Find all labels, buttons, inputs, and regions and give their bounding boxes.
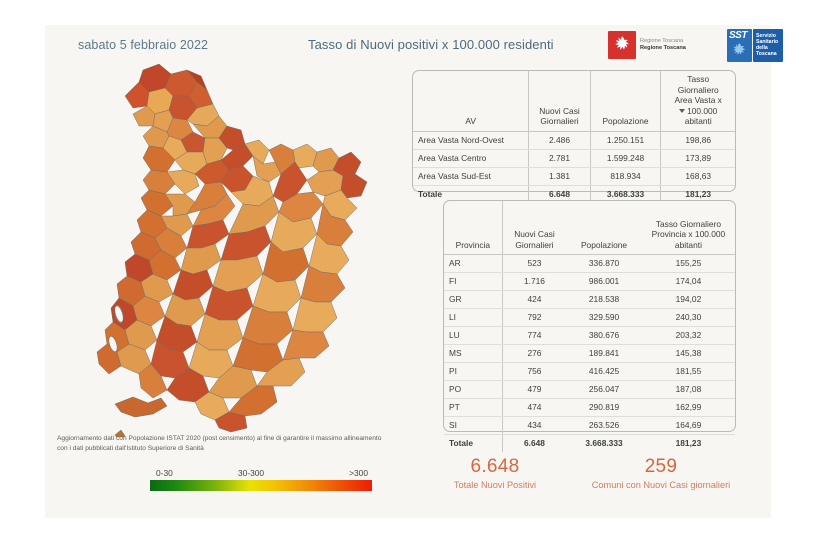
cell-casi: 434 — [502, 417, 566, 435]
cell-tasso: 187,08 — [642, 381, 735, 399]
cell-provincia: PT — [444, 399, 502, 417]
table-header-row: Provincia Nuovi Casi Giornalieri Popolaz… — [444, 201, 735, 255]
table-row[interactable]: SI 434 263.526 164,69 — [444, 417, 735, 435]
legend-label-mid: 30-300 — [238, 468, 264, 478]
provincia-table-body: AR 523 336.870 155,25 FI 1.716 986.001 1… — [444, 255, 735, 453]
provincia-table-panel: Provincia Nuovi Casi Giornalieri Popolaz… — [443, 200, 736, 432]
col-header-av-label: AV — [465, 116, 476, 126]
col-header-nuovi-casi[interactable]: Nuovi Casi Giornalieri — [502, 201, 566, 255]
cell-casi: 756 — [502, 363, 566, 381]
col-header-tasso-l1: Tasso Giornaliero — [678, 74, 719, 95]
cell-provincia: FI — [444, 273, 502, 291]
footnote-line-2: con i dati pubblicati dall'Istituto Supe… — [57, 444, 417, 454]
sst-name-block: Servizio Sanitario della Toscana — [753, 29, 783, 62]
stat-comuni-con-casi: 259 Comuni con Nuovi Casi giornalieri — [568, 455, 754, 492]
table-row[interactable]: PI 756 416.425 181,55 — [444, 363, 735, 381]
cell-area: Area Vasta Sud-Est — [413, 167, 529, 185]
table-row[interactable]: PO 479 256.047 187,08 — [444, 381, 735, 399]
sst-logo: SST Servizio Sanitario della Toscana — [727, 29, 783, 63]
regione-toscana-wordmark-top: Regione Toscana — [640, 38, 686, 45]
cell-tasso: 174,04 — [642, 273, 735, 291]
cell-casi: 774 — [502, 327, 566, 345]
col-header-nuovi-casi-l2: Giornalieri — [540, 116, 578, 126]
col-header-popolazione-label: Popolazione — [581, 240, 627, 250]
table-total-row: Totale 6.648 3.668.333 181,23 — [444, 435, 735, 453]
color-legend: 0-30 30-300 >300 — [150, 468, 372, 494]
cell-provincia: AR — [444, 255, 502, 273]
cell-casi: 1.716 — [502, 273, 566, 291]
col-header-tasso-l2: Provincia x 100.000 — [652, 229, 726, 239]
cell-casi: 2.486 — [529, 131, 590, 149]
dashboard-canvas: sabato 5 febbraio 2022 Tasso di Nuovi po… — [0, 0, 824, 540]
cell-area: Area Vasta Centro — [413, 149, 529, 167]
stat-total-value: 6.648 — [425, 455, 565, 478]
cell-total-casi: 6.648 — [502, 435, 566, 453]
cell-tasso: 198,86 — [661, 131, 735, 149]
col-header-popolazione-label: Popolazione — [602, 116, 648, 126]
pegasus-icon — [608, 31, 636, 59]
footnote-line-1: Aggiornamento dati con Popolazione ISTAT… — [57, 434, 417, 444]
stat-comuni-caption: Comuni con Nuovi Casi giornalieri — [568, 478, 754, 492]
cell-provincia: LI — [444, 309, 502, 327]
stat-total-nuovi-positivi: 6.648 Totale Nuovi Positivi — [425, 455, 565, 492]
cell-provincia: PI — [444, 363, 502, 381]
sort-descending-icon[interactable] — [679, 109, 685, 113]
table-row[interactable]: GR 424 218.538 194,02 — [444, 291, 735, 309]
cell-casi: 1.381 — [529, 167, 590, 185]
table-row[interactable]: LU 774 380.676 203,32 — [444, 327, 735, 345]
cell-tasso: 203,32 — [642, 327, 735, 345]
col-header-tasso[interactable]: Tasso Giornaliero Provincia x 100.000 ab… — [642, 201, 735, 255]
cell-area: Area Vasta Nord-Ovest — [413, 131, 529, 149]
footnote: Aggiornamento dati con Popolazione ISTAT… — [57, 434, 417, 454]
table-row[interactable]: Area Vasta Nord-Ovest 2.486 1.250.151 19… — [413, 131, 735, 149]
cell-tasso: 164,69 — [642, 417, 735, 435]
cell-provincia: GR — [444, 291, 502, 309]
legend-gradient-bar — [150, 480, 372, 491]
cell-pop: 256.047 — [566, 381, 642, 399]
col-header-nuovi-casi[interactable]: Nuovi Casi Giornalieri — [529, 71, 590, 131]
cell-casi: 792 — [502, 309, 566, 327]
cell-total-pop: 3.668.333 — [566, 435, 642, 453]
report-date: sabato 5 febbraio 2022 — [78, 38, 208, 52]
col-header-tasso-l2: Area Vasta x — [675, 95, 722, 105]
cell-tasso: 240,30 — [642, 309, 735, 327]
col-header-tasso[interactable]: Tasso Giornaliero Area Vasta x 100.000 a… — [661, 71, 735, 131]
regione-toscana-logo: Regione Toscana Regione Toscana — [608, 31, 686, 61]
col-header-tasso-l1: Tasso Giornaliero — [656, 219, 721, 229]
cell-provincia: SI — [444, 417, 502, 435]
regione-toscana-wordmark: Regione Toscana Regione Toscana — [640, 38, 686, 52]
cell-tasso: 194,02 — [642, 291, 735, 309]
cell-tasso: 155,25 — [642, 255, 735, 273]
table-row[interactable]: LI 792 329.590 240,30 — [444, 309, 735, 327]
cell-pop: 218.538 — [566, 291, 642, 309]
table-row[interactable]: Area Vasta Centro 2.781 1.599.248 173,89 — [413, 149, 735, 167]
cell-pop: 336.870 — [566, 255, 642, 273]
col-header-provincia-label: Provincia — [456, 240, 490, 250]
table-row[interactable]: AR 523 336.870 155,25 — [444, 255, 735, 273]
stat-total-caption: Totale Nuovi Positivi — [425, 478, 565, 492]
provincia-table: Provincia Nuovi Casi Giornalieri Popolaz… — [444, 201, 735, 452]
legend-label-high: >300 — [349, 468, 368, 478]
table-header-row: AV Nuovi Casi Giornalieri Popolazione Ta… — [413, 71, 735, 131]
cell-tasso: 173,89 — [661, 149, 735, 167]
tuscany-choropleth-map[interactable] — [55, 52, 410, 437]
regione-toscana-wordmark-main: Regione Toscana — [640, 45, 686, 51]
col-header-nuovi-casi-l1: Nuovi Casi — [514, 229, 555, 239]
table-row[interactable]: FI 1.716 986.001 174,04 — [444, 273, 735, 291]
page-title: Tasso di Nuovi positivi x 100.000 reside… — [308, 37, 554, 52]
cell-tasso: 168,63 — [661, 167, 735, 185]
cell-provincia: MS — [444, 345, 502, 363]
cell-total-tasso: 181,23 — [642, 435, 735, 453]
cell-pop: 290.819 — [566, 399, 642, 417]
cell-pop: 1.250.151 — [590, 131, 661, 149]
col-header-nuovi-casi-l1: Nuovi Casi — [539, 106, 580, 116]
cell-pop: 329.590 — [566, 309, 642, 327]
col-header-tasso-l3: abitanti — [675, 240, 702, 250]
table-row[interactable]: MS 276 189.841 145,38 — [444, 345, 735, 363]
cell-pop: 189.841 — [566, 345, 642, 363]
cell-pop: 263.526 — [566, 417, 642, 435]
cell-casi: 479 — [502, 381, 566, 399]
cell-casi: 424 — [502, 291, 566, 309]
cell-pop: 380.676 — [566, 327, 642, 345]
area-vasta-table: AV Nuovi Casi Giornalieri Popolazione Ta… — [413, 71, 735, 203]
cell-casi: 523 — [502, 255, 566, 273]
cell-casi: 2.781 — [529, 149, 590, 167]
area-vasta-table-panel: AV Nuovi Casi Giornalieri Popolazione Ta… — [412, 70, 736, 192]
cell-total-label: Totale — [444, 435, 502, 453]
col-header-popolazione[interactable]: Popolazione — [590, 71, 661, 131]
stat-comuni-value: 259 — [568, 455, 754, 478]
legend-label-low: 0-30 — [156, 468, 173, 478]
sst-emblem-icon: SST — [727, 29, 752, 62]
col-header-nuovi-casi-l2: Giornalieri — [515, 240, 553, 250]
cell-pop: 818.934 — [590, 167, 661, 185]
cell-pop: 986.001 — [566, 273, 642, 291]
cell-provincia: PO — [444, 381, 502, 399]
cell-tasso: 145,38 — [642, 345, 735, 363]
cell-pop: 416.425 — [566, 363, 642, 381]
cell-casi: 474 — [502, 399, 566, 417]
cell-provincia: LU — [444, 327, 502, 345]
col-header-provincia[interactable]: Provincia — [444, 201, 502, 255]
col-header-popolazione[interactable]: Popolazione — [566, 201, 642, 255]
cell-tasso: 162,99 — [642, 399, 735, 417]
cell-tasso: 181,55 — [642, 363, 735, 381]
col-header-tasso-l3: 100.000 abitanti — [685, 106, 718, 127]
cell-casi: 276 — [502, 345, 566, 363]
cell-pop: 1.599.248 — [590, 149, 661, 167]
table-row[interactable]: Area Vasta Sud-Est 1.381 818.934 168,63 — [413, 167, 735, 185]
sst-line-4: Toscana — [756, 51, 777, 57]
sst-acronym: SST — [729, 30, 747, 41]
col-header-av[interactable]: AV — [413, 71, 529, 131]
table-row[interactable]: PT 474 290.819 162,99 — [444, 399, 735, 417]
